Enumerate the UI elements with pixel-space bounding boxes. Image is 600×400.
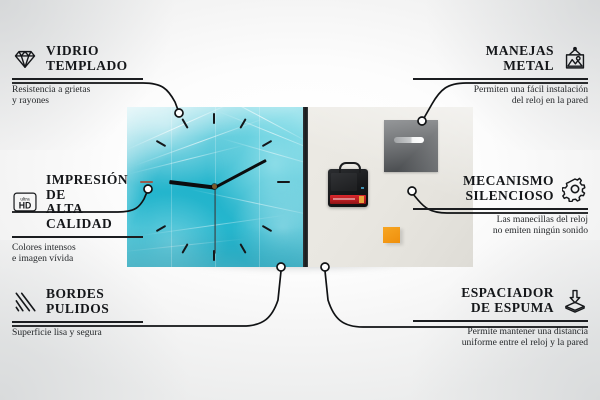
callout-title: IMPRESIÓN DE ALTA CALIDAD (46, 173, 143, 231)
metal-hanger-plate (384, 120, 438, 172)
callout-vidrio-templado: VIDRIO TEMPLADO Resistencia a grietas y … (12, 44, 143, 107)
svg-text:HD: HD (19, 201, 32, 211)
callout-manejas-metal: MANEJAS METAL Permiten una fácil instala… (413, 44, 588, 107)
callout-desc: Resistencia a grietas y rayones (12, 84, 143, 107)
mechanism-indicator (361, 187, 364, 189)
callout-rule (413, 320, 588, 322)
callout-bordes-pulidos: BORDES PULIDOS Superficie lisa y segura (12, 287, 143, 338)
infographic-canvas: VIDRIO TEMPLADO Resistencia a grietas y … (0, 0, 600, 400)
callout-title: MECANISMO SILENCIOSO (463, 174, 554, 203)
callout-espaciador-espuma: ESPACIADOR DE ESPUMA Permite mantener un… (413, 286, 588, 349)
callout-title: VIDRIO TEMPLADO (46, 44, 128, 73)
callout-title: BORDES PULIDOS (46, 287, 109, 316)
ultra-hd-icon: ultra HD (12, 189, 38, 215)
mechanism-panel (331, 173, 357, 191)
callout-desc: Las manecillas del reloj no emiten ningú… (413, 214, 588, 237)
callout-desc: Colores intensos e imagen vívida (12, 242, 143, 265)
clock-mechanism (328, 169, 368, 207)
battery (330, 195, 366, 204)
battery-stripe (333, 198, 355, 200)
gear-icon (562, 176, 588, 202)
callout-rule (12, 78, 143, 80)
foam-spacer-arrow-icon (562, 288, 588, 314)
diamond-icon (12, 46, 38, 72)
callout-rule (413, 208, 588, 210)
callout-rule (12, 236, 143, 238)
callout-title: MANEJAS METAL (486, 44, 554, 73)
clock-pivot (212, 184, 217, 189)
mechanism-hanging-loop (339, 162, 361, 173)
callout-rule (12, 321, 143, 323)
picture-frame-hanger-icon (562, 46, 588, 72)
foam-spacer-pad (383, 227, 400, 243)
callout-mecanismo-silencioso: MECANISMO SILENCIOSO Las manecillas del … (413, 174, 588, 237)
callout-desc: Permite mantener una distancia uniforme … (413, 326, 588, 349)
polished-edges-icon (12, 289, 38, 315)
clock-face-glass (127, 107, 303, 267)
callout-title: ESPACIADOR DE ESPUMA (461, 286, 554, 315)
callout-impresion-alta-calidad: ultra HD IMPRESIÓN DE ALTA CALIDAD Color… (12, 173, 143, 265)
hanger-slot (394, 137, 424, 143)
callout-desc: Permiten una fácil instalación del reloj… (413, 84, 588, 107)
callout-rule (413, 78, 588, 80)
callout-desc: Superficie lisa y segura (12, 327, 143, 339)
clock-second-hand (214, 188, 215, 254)
